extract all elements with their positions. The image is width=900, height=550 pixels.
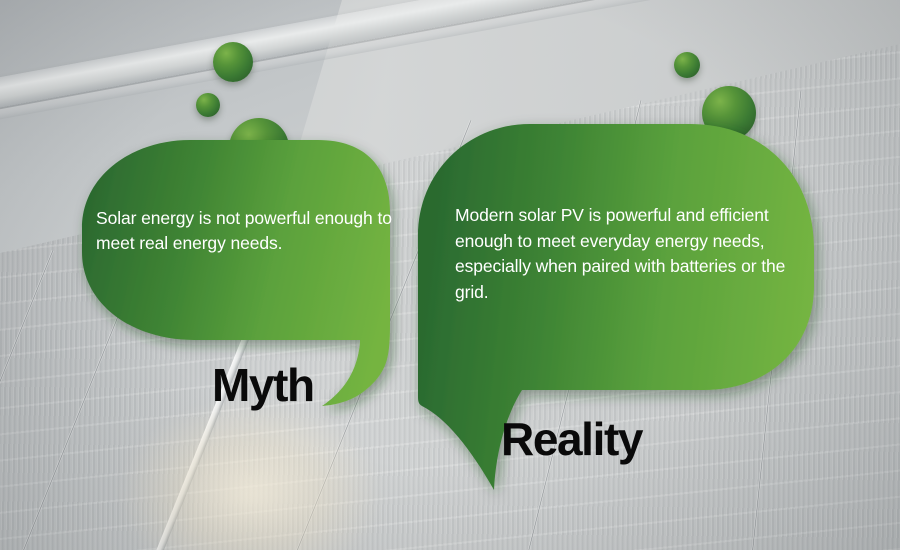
infographic-canvas: Solar energy is not powerful enough to m… xyxy=(0,0,900,550)
myth-body-text: Solar energy is not powerful enough to m… xyxy=(96,206,396,256)
myth-label: Myth xyxy=(212,358,314,412)
reality-label: Reality xyxy=(501,412,642,466)
sphere-right-small-icon xyxy=(674,52,700,78)
reality-body-text: Modern solar PV is powerful and efficien… xyxy=(455,203,805,305)
sphere-left-small-icon xyxy=(196,93,220,117)
sphere-left-top-icon xyxy=(213,42,253,82)
